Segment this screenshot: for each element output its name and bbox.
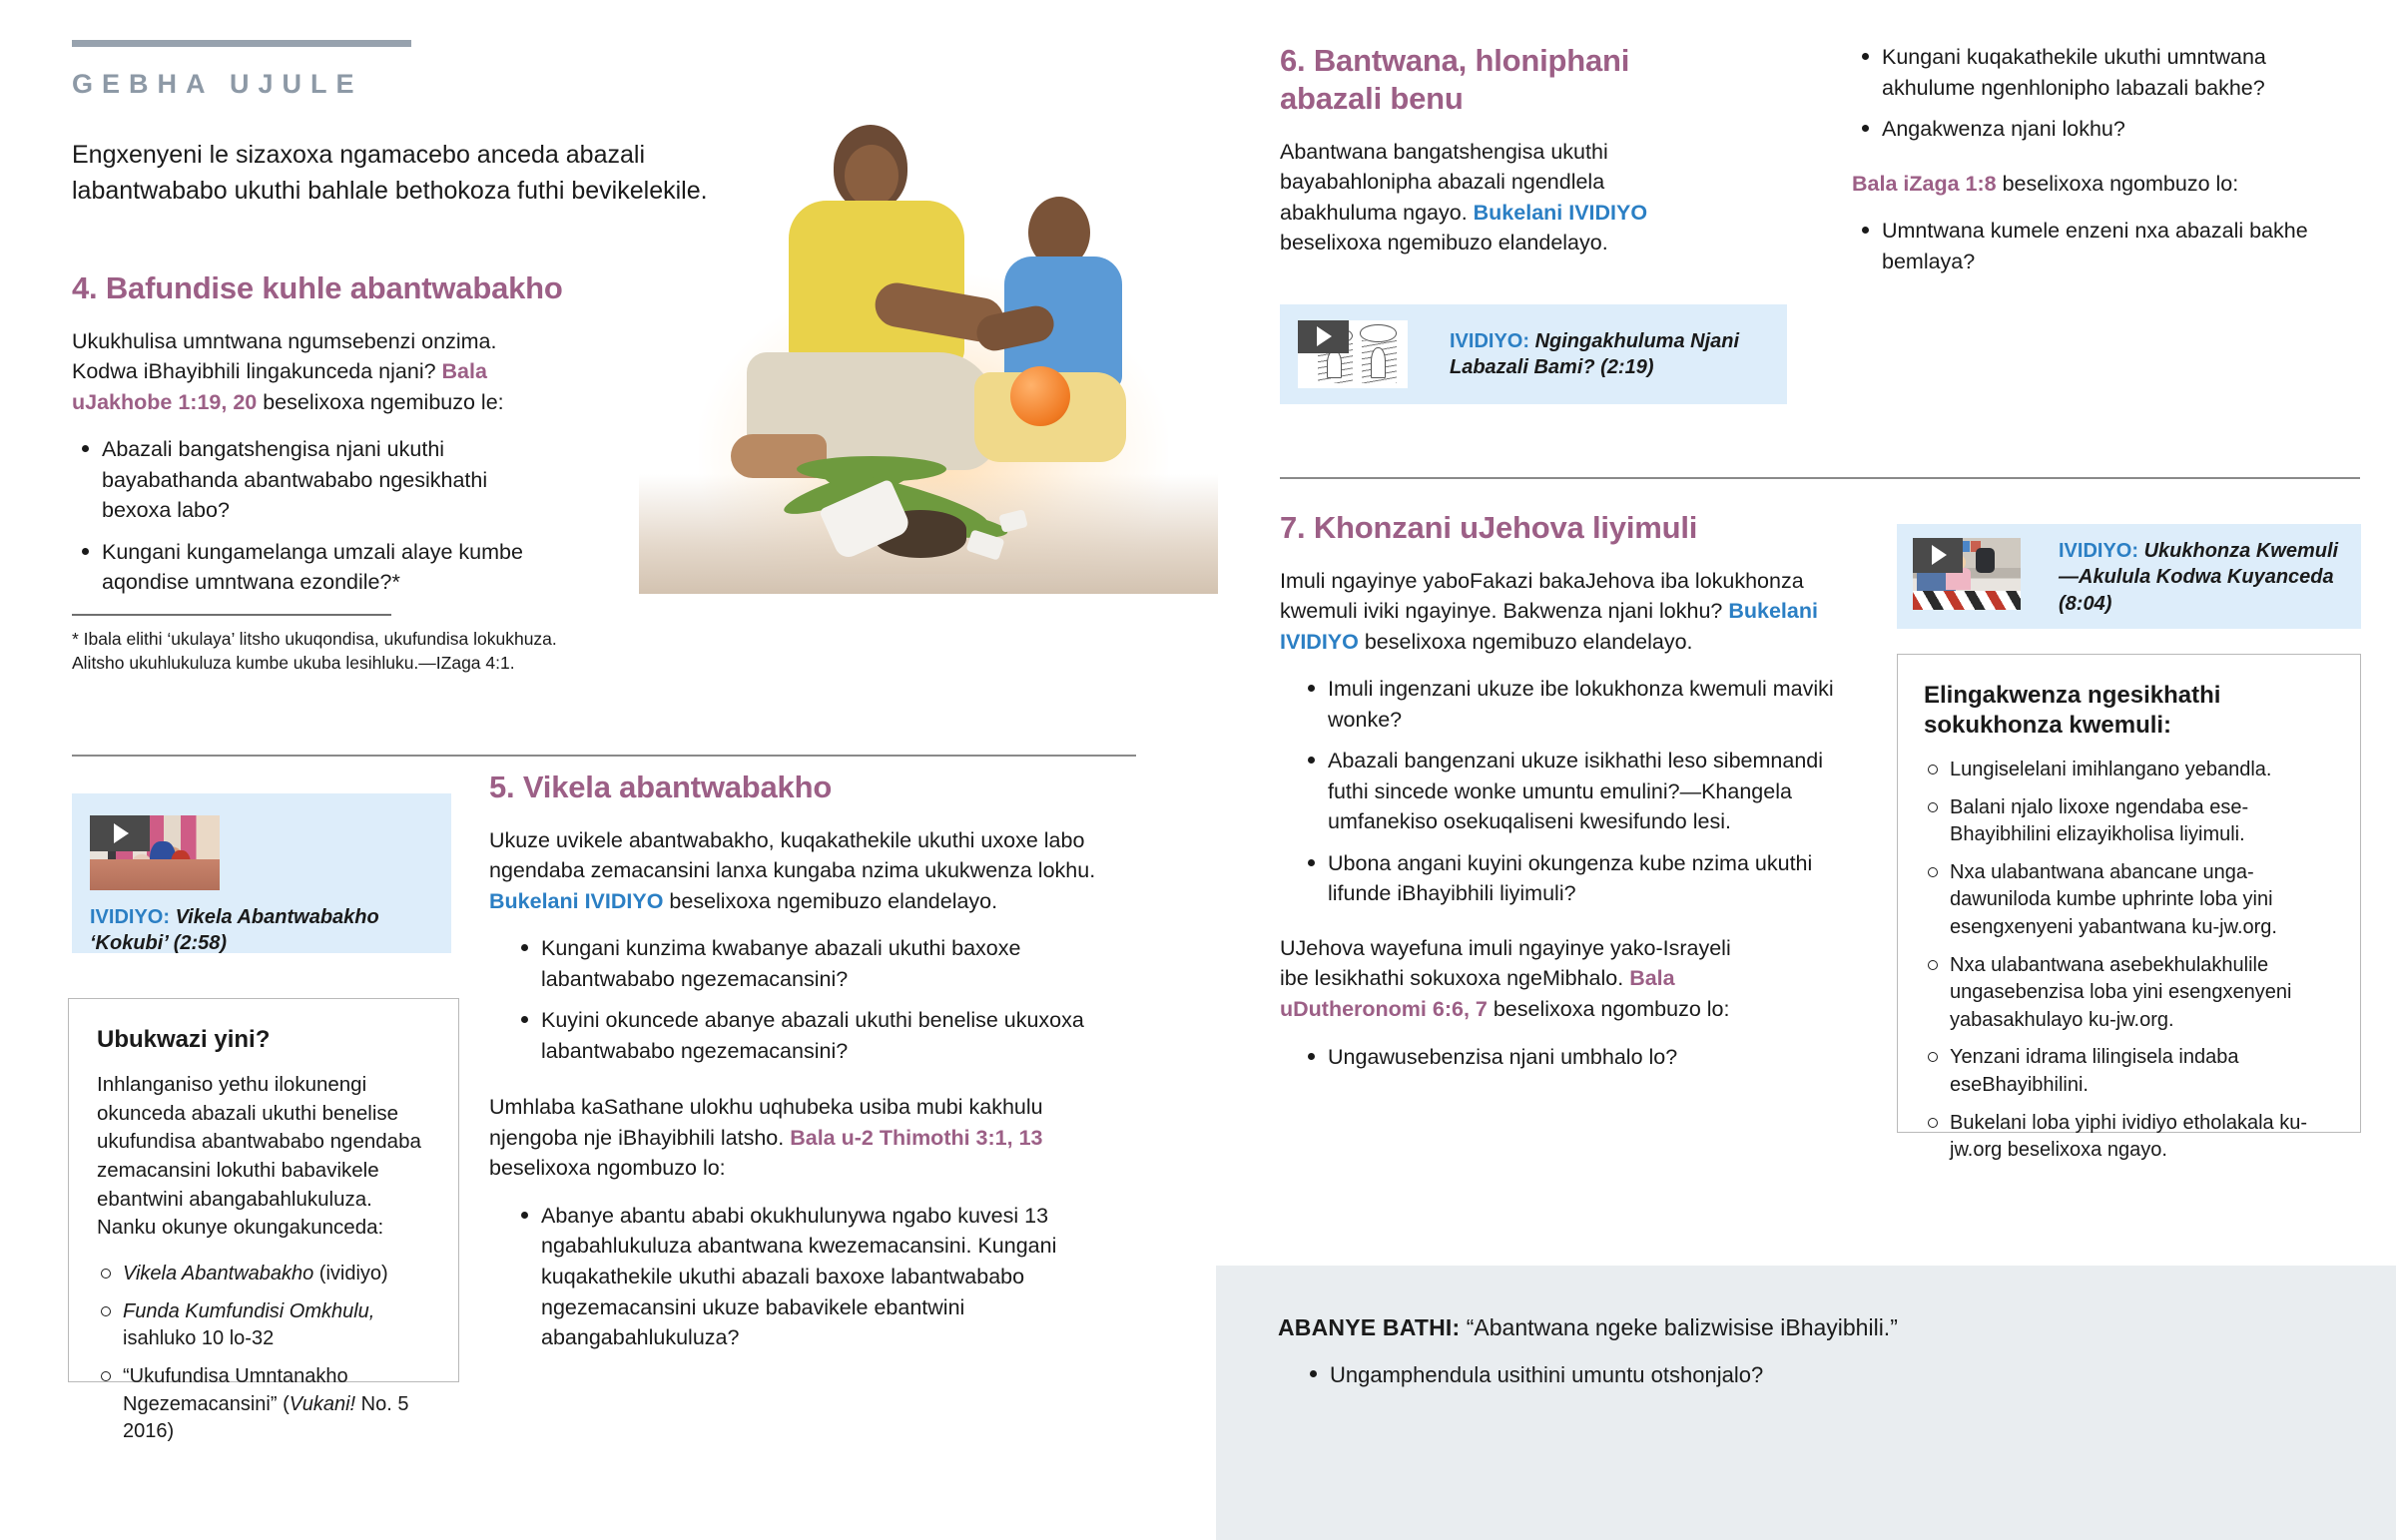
section-5-bullets: Kungani kunzima kwabanye abazali ukuthi … bbox=[489, 933, 1148, 1066]
video-caption: IVIDIYO: Ngingakhuluma Njani Labazali Ba… bbox=[1450, 328, 1769, 381]
did-you-know-items: Vikela Abantwabakho (ividiyo) Funda Kumf… bbox=[97, 1261, 430, 1446]
section-6-bullets: Kungani kuqakathekile ukuthi umntwana ak… bbox=[1852, 42, 2361, 145]
list-item: “Ukufundisa Umntanakho Ngezemacansini” (… bbox=[97, 1363, 430, 1446]
video-label: IVIDIYO: bbox=[2059, 540, 2138, 562]
video-thumbnail[interactable] bbox=[1298, 320, 1408, 388]
section-4-title: 4. Bafundise kuhle abantwabakho bbox=[72, 269, 671, 307]
cloud bbox=[1360, 324, 1397, 342]
section-4-paragraph: Ukukhulisa umntwana ngumsebenzi onzima. … bbox=[72, 326, 541, 418]
video-caption: IVIDIYO: Vikela Abantwabakho ‘Kokubi’ (2… bbox=[90, 904, 419, 957]
figure bbox=[171, 850, 192, 883]
family-worship-ideas-items: Lungiselelani imihlangano yebandla. Bala… bbox=[1924, 757, 2334, 1165]
section-5-paragraph-a-lead: Ukuze uvikele abantwabakho, kuqakathekil… bbox=[489, 828, 1095, 883]
section-5: 5. Vikela abantwabakho Ukuze uvikele aba… bbox=[489, 769, 1148, 1369]
video-callout-vikela[interactable]: IVIDIYO: Vikela Abantwabakho ‘Kokubi’ (2… bbox=[72, 793, 451, 953]
figure bbox=[129, 860, 145, 883]
list-item: Angakwenza njani lokhu? bbox=[1852, 114, 2361, 145]
section-7-paragraph-a: Imuli ngayinye yaboFakazi bakaJehova iba… bbox=[1280, 566, 1844, 658]
article-page: GEBHA UJULE Engxenyeni le sizaxoxa ngama… bbox=[0, 0, 2396, 1540]
list-item: Kuyini okuncede abanye abazali ukuthi be… bbox=[511, 1005, 1148, 1066]
section-7-title: 7. Khonzani uJehova liyimuli bbox=[1280, 509, 1859, 547]
article-header: GEBHA UJULE Engxenyeni le sizaxoxa ngama… bbox=[72, 40, 711, 209]
section-4-bullets: Abazali bangatshengisa njani ukuthi baya… bbox=[72, 434, 541, 598]
family-worship-ideas-box: Elingakwenza ngesikhathi sokukhonza kwem… bbox=[1897, 654, 2361, 1133]
list-item: Abanye abantu ababi okukhulunywa ngabo k… bbox=[511, 1201, 1148, 1353]
section-7-paragraph-a-tail: beselixoxa ngemibuzo elandelayo. bbox=[1359, 630, 1693, 654]
video-label: IVIDIYO: bbox=[1450, 330, 1529, 352]
section-5-bullets-b: Abanye abantu ababi okukhulunywa ngabo k… bbox=[489, 1201, 1148, 1353]
column-divider-right bbox=[1280, 477, 2360, 479]
did-you-know-paragraph: Inhlanganiso yethu ilokunengi okunceda a… bbox=[97, 1071, 430, 1243]
figure bbox=[150, 841, 176, 882]
some-people-say-bullets: Ungamphendula usithini umuntu otshonjalo… bbox=[1278, 1359, 2396, 1390]
list-item: Kungani kunzima kwabanye abazali ukuthi … bbox=[511, 933, 1148, 994]
list-item: Vikela Abantwabakho (ividiyo) bbox=[97, 1261, 430, 1288]
section-6-paragraph-tail: beselixoxa ngemibuzo elandelayo. bbox=[1280, 231, 1608, 255]
list-item: Kungani kuqakathekile ukuthi umntwana ak… bbox=[1852, 42, 2361, 103]
list-item: Yenzani idrama lilingisela indaba eseBha… bbox=[1924, 1044, 2334, 1099]
did-you-know-title: Ubukwazi yini? bbox=[97, 1025, 430, 1055]
some-people-say-panel: ABANYE BATHI: “Abantwana ngeke balizwisi… bbox=[1216, 1266, 2396, 1540]
footnote-rule bbox=[72, 614, 391, 616]
some-people-say-quote: “Abantwana ngeke balizwisise iBhayibhili… bbox=[1460, 1314, 1898, 1340]
video-label: IVIDIYO: bbox=[90, 906, 170, 928]
video-thumbnail[interactable] bbox=[1913, 538, 2021, 610]
list-item: Funda Kumfundisi Omkhulu, isahluko 10 lo… bbox=[97, 1298, 430, 1353]
figure bbox=[1976, 548, 1995, 572]
section-6-scripture-tail: beselixoxa ngombuzo lo: bbox=[1997, 172, 2239, 196]
section-5-paragraph-a-tail: beselixoxa ngemibuzo elandelayo. bbox=[663, 889, 997, 913]
section-6-scripture-line: Bala iZaga 1:8 beselixoxa ngombuzo lo: bbox=[1852, 169, 2361, 200]
section-5-paragraph-b-tail: beselixoxa ngombuzo lo: bbox=[489, 1156, 726, 1180]
some-people-say-inner: ABANYE BATHI: “Abantwana ngeke balizwisi… bbox=[1216, 1266, 2396, 1390]
section-6-continued: Kungani kuqakathekile ukuthi umntwana ak… bbox=[1852, 42, 2361, 292]
list-item: Lungiselelani imihlangano yebandla. bbox=[1924, 757, 2334, 784]
list-item: Abazali bangatshengisa njani ukuthi baya… bbox=[72, 434, 541, 526]
list-item: Kungani kungamelanga umzali alaye kumbe … bbox=[72, 537, 541, 598]
list-item: Balani njalo lixoxe ngendaba ese-Bhayibh… bbox=[1924, 794, 2334, 849]
figure bbox=[1327, 350, 1342, 379]
figure bbox=[1371, 347, 1386, 378]
play-icon[interactable] bbox=[90, 815, 150, 851]
video-callout-ukukhonza[interactable]: IVIDIYO: Ukukhonza Kwemuli—Akulula Kodwa… bbox=[1897, 524, 2361, 629]
family-worship-ideas-title: Elingakwenza ngesikhathi sokukhonza kwem… bbox=[1924, 681, 2334, 741]
play-icon[interactable] bbox=[1913, 538, 1963, 573]
section-6-paragraph: Abantwana bangatshengisa ukuthi bayabahl… bbox=[1280, 137, 1659, 258]
section-7-paragraph-a-lead: Imuli ngayinye yaboFakazi bakaJehova iba… bbox=[1280, 569, 1804, 624]
table-surface bbox=[1913, 591, 2021, 610]
list-item: Abazali bangenzani ukuze isikhathi leso … bbox=[1298, 746, 1849, 837]
list-item: Ubona angani kuyini okungenza kube nzima… bbox=[1298, 848, 1849, 909]
list-item: Nxa ulabantwana abancane unga-dawuniloda… bbox=[1924, 859, 2334, 942]
video-callout-ngingakhuluma[interactable]: IVIDIYO: Ngingakhuluma Njani Labazali Ba… bbox=[1280, 304, 1787, 404]
section-4-paragraph-tail: beselixoxa ngemibuzo le: bbox=[257, 390, 503, 414]
section-5-title: 5. Vikela abantwabakho bbox=[489, 769, 1148, 806]
section-4-paragraph-lead: Ukukhulisa umntwana ngumsebenzi onzima. … bbox=[72, 329, 496, 384]
column-divider-left bbox=[72, 755, 1136, 757]
list-item: Ungamphendula usithini umuntu otshonjalo… bbox=[1300, 1359, 2396, 1390]
section-7-bullets: Imuli ingenzani ukuze ibe lokukhonza kwe… bbox=[1280, 674, 1849, 909]
section-6: 6. Bantwana, hloniphani abazali benu Aba… bbox=[1280, 42, 1849, 275]
list-item: Bukelani loba yiphi ividiyo etholakala k… bbox=[1924, 1110, 2334, 1165]
publication-title: Vukani! bbox=[290, 1393, 355, 1415]
section-4-footnote: * Ibala elithi ‘ukulaya’ litsho ukuqondi… bbox=[72, 627, 611, 675]
list-item: Imuli ingenzani ukuze ibe lokukhonza kwe… bbox=[1298, 674, 1849, 735]
scripture-reference-thimothi[interactable]: Bala u-2 Thimothi 3:1, 13 bbox=[790, 1126, 1042, 1150]
kicker-label: GEBHA UJULE bbox=[72, 69, 711, 100]
section-7-paragraph-b-tail: beselixoxa ngombuzo lo: bbox=[1488, 997, 1730, 1021]
video-caption: IVIDIYO: Ukukhonza Kwemuli—Akulula Kodwa… bbox=[2059, 538, 2345, 617]
play-icon[interactable] bbox=[1298, 320, 1349, 353]
section-5-paragraph-a: Ukuze uvikele abantwabakho, kuqakathekil… bbox=[489, 825, 1148, 917]
adult-face bbox=[845, 145, 898, 207]
section-7-bullets-b: Ungawusebenzisa njani umbhalo lo? bbox=[1280, 1042, 1859, 1073]
some-people-say-quote-line: ABANYE BATHI: “Abantwana ngeke balizwisi… bbox=[1278, 1311, 2396, 1343]
ball bbox=[1010, 366, 1070, 426]
figure bbox=[108, 866, 126, 883]
list-item-rest: isahluko 10 lo-32 bbox=[123, 1327, 274, 1349]
list-item: Nxa ulabantwana asebekhulakhulile ungase… bbox=[1924, 952, 2334, 1035]
publication-title: Vikela Abantwabakho bbox=[123, 1263, 313, 1284]
section-7-paragraph-b: UJehova wayefuna imuli ngayinye yako-Isr… bbox=[1280, 933, 1759, 1025]
did-you-know-box: Ubukwazi yini? Inhlanganiso yethu ilokun… bbox=[68, 998, 459, 1382]
watch-video-link[interactable]: Bukelani IVIDIYO bbox=[489, 889, 663, 913]
section-6-title: 6. Bantwana, hloniphani abazali benu bbox=[1280, 42, 1699, 118]
list-item-rest: (ividiyo) bbox=[313, 1263, 387, 1284]
section-6-bullets-b: Umntwana kumele enzeni nxa abazali bakhe… bbox=[1852, 216, 2361, 276]
watch-video-link[interactable]: Bukelani IVIDIYO bbox=[1474, 201, 1647, 225]
list-item: Umntwana kumele enzeni nxa abazali bakhe… bbox=[1852, 216, 2361, 276]
video-thumbnail[interactable] bbox=[90, 815, 220, 890]
header-rule bbox=[72, 40, 411, 47]
adult-torso bbox=[789, 201, 964, 368]
section-5-paragraph-b: Umhlaba kaSathane ulokhu uqhubeka usiba … bbox=[489, 1092, 1088, 1184]
list-item: Ungawusebenzisa njani umbhalo lo? bbox=[1298, 1042, 1859, 1073]
scripture-reference-izaga[interactable]: Bala iZaga 1:8 bbox=[1852, 172, 1997, 196]
section-7: 7. Khonzani uJehova liyimuli Imuli ngayi… bbox=[1280, 509, 1859, 1088]
hero-illustration-father-and-son bbox=[639, 105, 1218, 624]
publication-title: Funda Kumfundisi Omkhulu, bbox=[123, 1300, 374, 1322]
section-4: 4. Bafundise kuhle abantwabakho Ukukhuli… bbox=[72, 269, 671, 675]
some-people-say-label: ABANYE BATHI: bbox=[1278, 1314, 1460, 1340]
intro-paragraph: Engxenyeni le sizaxoxa ngamacebo anceda … bbox=[72, 138, 711, 209]
